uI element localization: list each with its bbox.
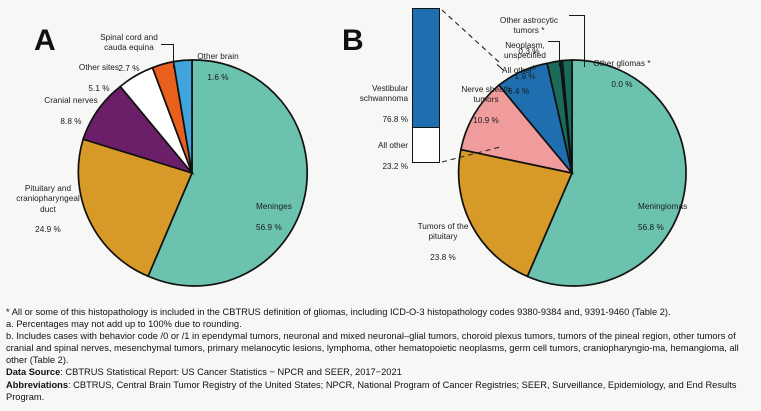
footnote-abbreviations: Abbreviations: CBTRUS, Central Brain Tum…	[6, 379, 758, 403]
label-meningiomas: Meningiomas 56.8 %	[638, 192, 687, 243]
label-meninges: Meninges 56.9 %	[256, 192, 292, 243]
stacked-bar[interactable]	[412, 8, 440, 163]
footnote-abbreviations-text: : CBTRUS, Central Brain Tumor Registry o…	[6, 380, 736, 402]
label-other-brain-pct: 1.6 %	[182, 73, 254, 83]
panel-b-letter: B	[342, 26, 364, 56]
bar-segment-vestibular-schwannoma[interactable]	[413, 9, 439, 127]
footnote-data-source-label: Data Source	[6, 367, 60, 377]
label-other-brain: Other brain 1.6 %	[182, 42, 254, 93]
label-nerve-sheath-pct: 10.9 %	[440, 116, 532, 126]
label-meningiomas-pct: 56.8 %	[638, 223, 687, 233]
label-other-astrocytic-pct: 0.3 %	[489, 47, 569, 57]
label-cranial-nerves-pct: 8.8 %	[32, 117, 110, 127]
label-pituitary-pct: 24.9 %	[2, 225, 94, 235]
panel-a-letter: A	[34, 26, 56, 56]
label-other-gliomas-name: Other gliomas *	[576, 59, 668, 69]
footnotes-block: * All or some of this histopathology is …	[6, 306, 758, 403]
bar-segment-all-other[interactable]	[413, 127, 439, 163]
footnote-data-source-text: : CBTRUS Statistical Report: US Cancer S…	[60, 367, 402, 377]
label-tumors-of-the-pituitary: Tumors of the pituitary 23.8 %	[400, 212, 486, 273]
label-pituitary-tumors-pct: 23.8 %	[400, 253, 486, 263]
label-vestibular-schwannoma: Vestibular schwannoma 76.8 %	[330, 74, 408, 135]
label-other-sites-pct: 5.1 %	[63, 84, 135, 94]
footnote-a: a. Percentages may not add up to 100% du…	[6, 318, 758, 330]
figure-container: A Meninges 56.9 % Pituitary and cranioph…	[0, 0, 761, 411]
label-pituitary-tumors-name: Tumors of the pituitary	[400, 222, 486, 242]
label-meninges-name: Meninges	[256, 202, 292, 212]
label-pituitary-name: Pituitary and craniopharyngeal duct	[2, 184, 94, 215]
footnote-abbreviations-label: Abbreviations	[6, 380, 68, 390]
label-spinal-cord-cauda-equina: Spinal cord and cauda equina 2.7 %	[84, 23, 174, 84]
label-pituitary-craniopharyngeal-duct: Pituitary and craniopharyngeal duct 24.9…	[2, 174, 94, 245]
label-other-astrocytic-tumors: Other astrocytic tumors * 0.3 %	[489, 6, 569, 67]
label-spinal-cord-pct: 2.7 %	[84, 64, 174, 74]
label-vestibular-schwannoma-name: Vestibular schwannoma	[330, 84, 408, 104]
label-neoplasm-pct: 1.9 %	[489, 72, 561, 82]
label-other-gliomas: Other gliomas * 0.0 %	[576, 49, 668, 100]
label-meningiomas-name: Meningiomas	[638, 202, 687, 212]
label-vestibular-schwannoma-pct: 76.8 %	[330, 115, 408, 125]
label-bar-all-other: All other 23.2 %	[330, 131, 408, 182]
label-bar-all-other-name: All other	[330, 141, 408, 151]
label-other-brain-name: Other brain	[182, 52, 254, 62]
footnote-b: b. Includes cases with behavior code /0 …	[6, 330, 758, 366]
label-meninges-pct: 56.9 %	[256, 223, 292, 233]
footnote-asterisk: * All or some of this histopathology is …	[6, 306, 758, 318]
label-other-gliomas-pct: 0.0 %	[576, 80, 668, 90]
vestibular-schwannoma-bar-inset	[412, 8, 440, 163]
leader-spinal-cord-vertical	[173, 44, 174, 68]
footnote-data-source: Data Source: CBTRUS Statistical Report: …	[6, 366, 758, 378]
label-other-astrocytic-name: Other astrocytic tumors *	[489, 16, 569, 36]
leader-other-astrocytic-horizontal	[569, 15, 585, 16]
label-bar-all-other-pct: 23.2 %	[330, 162, 408, 172]
